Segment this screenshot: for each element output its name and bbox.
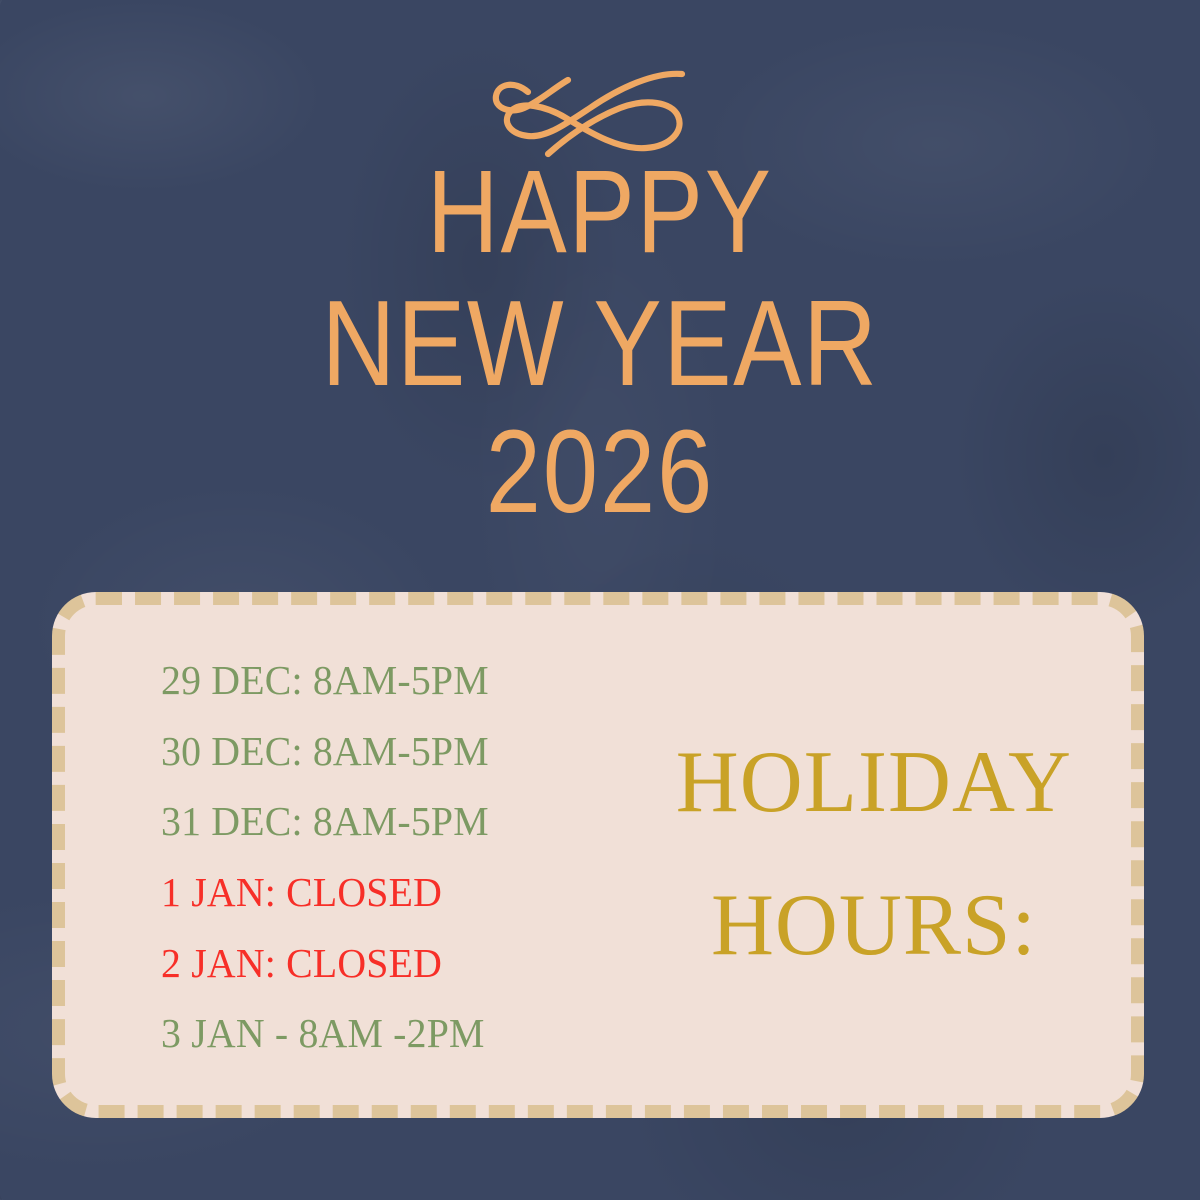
hours-row: 31 DEC: 8AM-5PM bbox=[161, 786, 637, 857]
hours-row: 1 JAN: CLOSED bbox=[161, 857, 637, 928]
hours-row: 2 JAN: CLOSED bbox=[161, 928, 637, 999]
hours-row: 30 DEC: 8AM-5PM bbox=[161, 716, 637, 787]
hours-list: 29 DEC: 8AM-5PM 30 DEC: 8AM-5PM 31 DEC: … bbox=[65, 641, 651, 1068]
headline-line-happy: HAPPY bbox=[96, 156, 1104, 269]
holiday-hours-card: 29 DEC: 8AM-5PM 30 DEC: 8AM-5PM 31 DEC: … bbox=[52, 592, 1144, 1118]
new-year-holiday-hours-poster: HAPPY NEW YEAR 2026 29 DEC: 8AM-5PM 30 D… bbox=[0, 0, 1200, 1200]
headline-line-year: 2026 bbox=[96, 416, 1104, 529]
hours-row: 29 DEC: 8AM-5PM bbox=[161, 645, 637, 716]
holiday-hours-heading: HOLIDAY HOURS: bbox=[651, 712, 1131, 997]
headline-line-newyear: NEW YEAR bbox=[96, 285, 1104, 402]
headline-block: HAPPY NEW YEAR 2026 bbox=[0, 62, 1200, 530]
heading-line-holiday: HOLIDAY bbox=[654, 712, 1095, 855]
card-content: 29 DEC: 8AM-5PM 30 DEC: 8AM-5PM 31 DEC: … bbox=[65, 605, 1131, 1105]
hours-row: 3 JAN - 8AM -2PM bbox=[161, 998, 637, 1069]
heading-line-hours: HOURS: bbox=[654, 855, 1095, 998]
